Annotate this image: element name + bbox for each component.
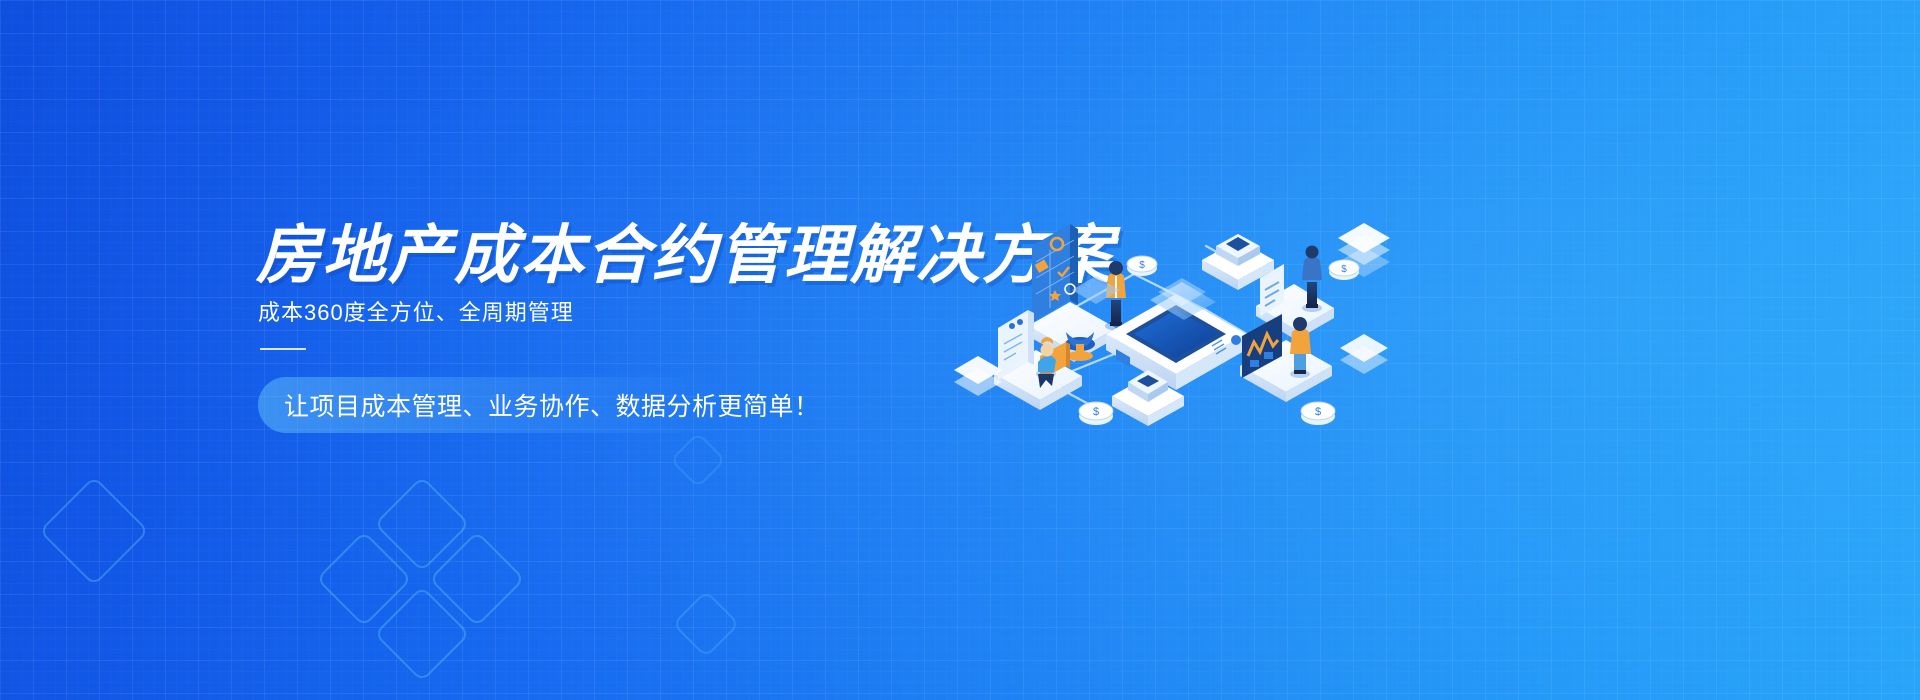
tagline-text: 让项目成本管理、业务协作、数据分析更简单！ bbox=[284, 387, 820, 423]
title-divider bbox=[260, 348, 306, 350]
hero-illustration: $ $ $ $ bbox=[920, 150, 1390, 440]
hero-banner: 房地产成本合约管理解决方案 成本360度全方位、全周期管理 让项目成本管理、业务… bbox=[0, 0, 1920, 700]
svg-text:$: $ bbox=[1093, 406, 1099, 418]
page-subtitle: 成本360度全方位、全周期管理 bbox=[258, 295, 574, 327]
coin-stack-mid: $ bbox=[1301, 402, 1335, 425]
coin-stack-left: $ bbox=[1079, 402, 1113, 425]
hero-text-block: 房地产成本合约管理解决方案 成本360度全方位、全周期管理 让项目成本管理、业务… bbox=[256, 0, 1016, 700]
decorative-diamond bbox=[39, 476, 149, 586]
svg-text:$: $ bbox=[1139, 260, 1145, 271]
stacked-layers-icon-lower-right bbox=[1340, 334, 1388, 374]
coin-stack-right: $ bbox=[1127, 256, 1157, 276]
tagline-pill: 让项目成本管理、业务协作、数据分析更简单！ bbox=[258, 377, 848, 433]
server-core-icon bbox=[1106, 278, 1246, 390]
svg-text:$: $ bbox=[1315, 406, 1321, 418]
